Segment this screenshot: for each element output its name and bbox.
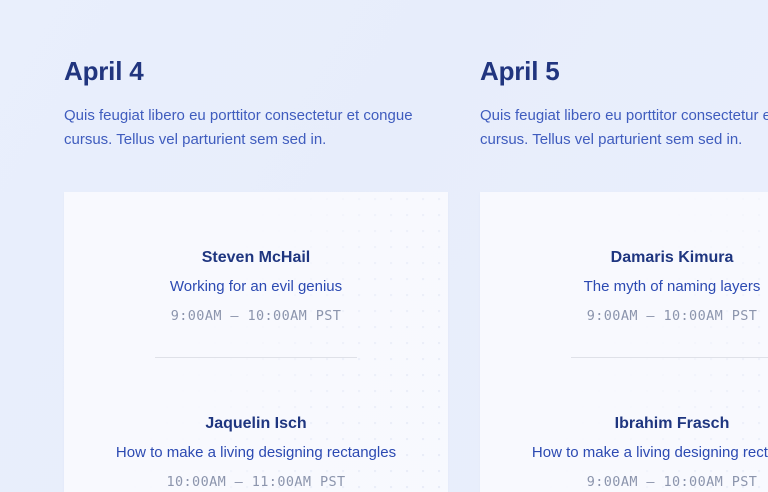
talk-title: How to make a living designing rectangle… (496, 443, 768, 463)
session-list: Steven McHail Working for an evil genius… (64, 192, 448, 491)
talk-time: 9:00AM — 10:00AM PST (80, 307, 432, 325)
session-item[interactable]: Steven McHail Working for an evil genius… (64, 192, 448, 325)
session-list: Damaris Kimura The myth of naming layers… (480, 192, 768, 491)
talk-title: Working for an evil genius (80, 277, 432, 297)
session-card: Steven McHail Working for an evil genius… (64, 192, 448, 492)
speaker-name: Steven McHail (80, 248, 432, 268)
talk-title: How to make a living designing rectangle… (80, 443, 432, 463)
day-column-april-5: April 5 Quis feugiat libero eu porttitor… (480, 0, 768, 492)
day-title: April 4 (64, 56, 448, 86)
day-description: Quis feugiat libero eu porttitor consect… (480, 104, 768, 152)
talk-time: 9:00AM — 10:00AM PST (496, 307, 768, 325)
day-column-april-4: April 4 Quis feugiat libero eu porttitor… (64, 0, 448, 492)
day-header: April 4 Quis feugiat libero eu porttitor… (64, 0, 448, 152)
talk-title: The myth of naming layers (496, 277, 768, 297)
session-item[interactable]: Ibrahim Frasch How to make a living desi… (480, 358, 768, 491)
session-item[interactable]: Damaris Kimura The myth of naming layers… (480, 192, 768, 325)
session-card: Damaris Kimura The myth of naming layers… (480, 192, 768, 492)
day-columns: April 4 Quis feugiat libero eu porttitor… (64, 0, 768, 492)
day-title: April 5 (480, 56, 768, 86)
day-description: Quis feugiat libero eu porttitor consect… (64, 104, 420, 152)
talk-time: 9:00AM — 10:00AM PST (496, 473, 768, 491)
session-item[interactable]: Jaquelin Isch How to make a living desig… (64, 358, 448, 491)
speaker-name: Jaquelin Isch (80, 414, 432, 434)
session-divider (155, 357, 357, 358)
session-divider (571, 357, 768, 358)
day-header: April 5 Quis feugiat libero eu porttitor… (480, 0, 768, 152)
speaker-name: Damaris Kimura (496, 248, 768, 268)
talk-time: 10:00AM — 11:00AM PST (80, 473, 432, 491)
schedule-board: April 4 Quis feugiat libero eu porttitor… (0, 0, 768, 492)
speaker-name: Ibrahim Frasch (496, 414, 768, 434)
